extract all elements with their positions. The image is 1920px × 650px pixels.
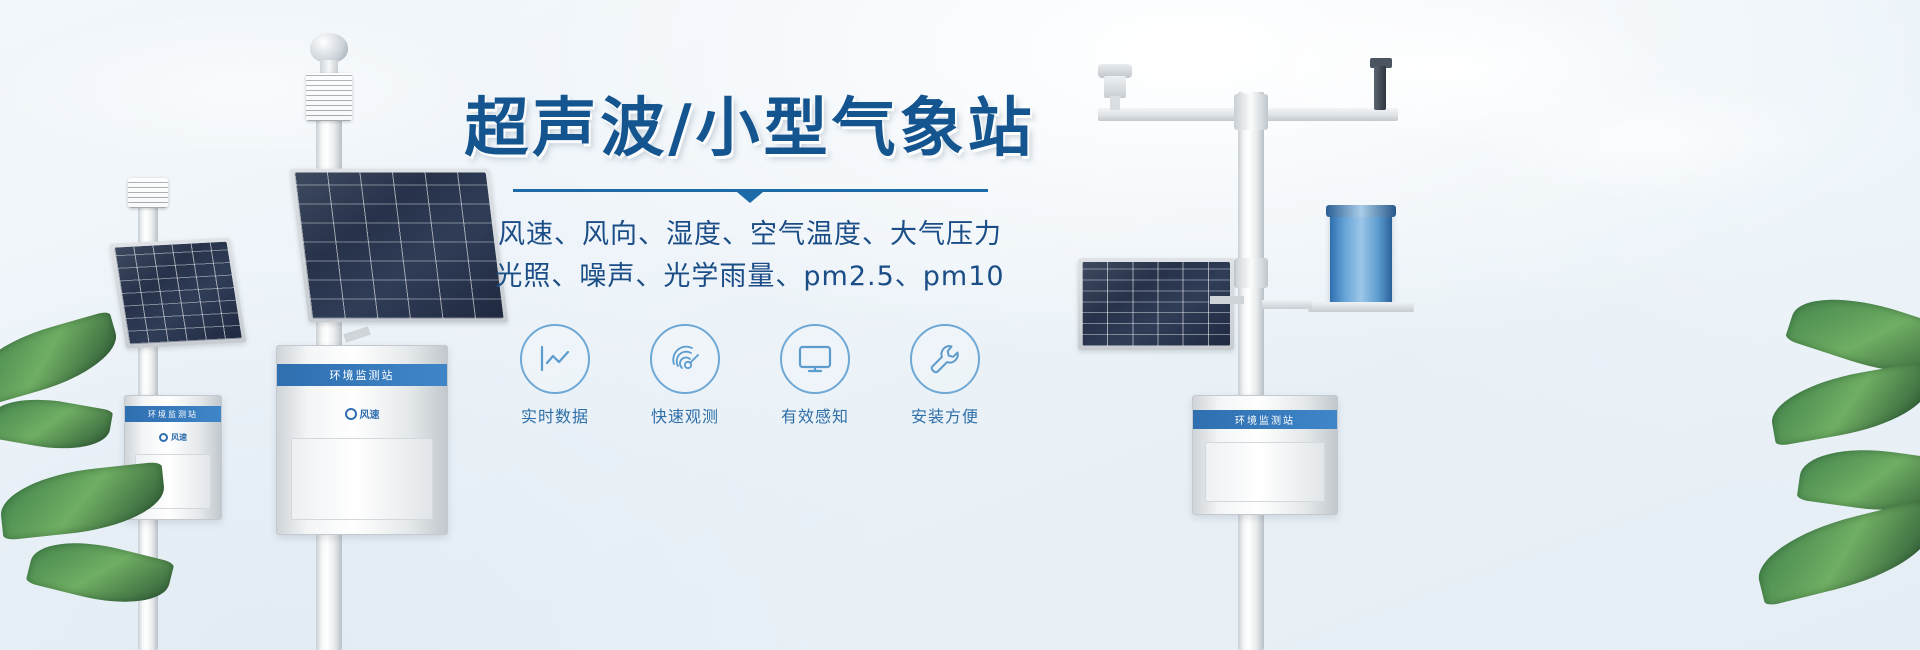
- station-mid-strip-label: 环境监测站: [330, 367, 395, 383]
- station-mid-cabinet-strip: 环境监测站: [277, 364, 447, 386]
- feature-circle: [780, 324, 850, 394]
- station-mid-radiation-shield: [306, 73, 352, 121]
- station-mid-cabinet: 环境监测站 风速: [276, 345, 448, 535]
- station-left-cabinet-logo: 风速: [125, 432, 221, 443]
- station-mid-cabinet-door: [291, 438, 433, 520]
- station-mid-brand-label: 风速: [360, 406, 380, 421]
- shield-fins: [128, 178, 168, 208]
- feature-item-fast-observation[interactable]: 快速观测: [642, 324, 728, 427]
- brand-mark-icon: [159, 433, 168, 442]
- subline-1: 风速、风向、湿度、空气温度、大气压力: [430, 214, 1070, 256]
- subline-2: 光照、噪声、光学雨量、pm2.5、pm10: [430, 256, 1070, 298]
- station-left-brand-label: 风速: [171, 432, 187, 443]
- rain-gauge-top: [1326, 205, 1396, 217]
- banner-content: 超声波/小型气象站 风速、风向、湿度、空气温度、大气压力 光照、噪声、光学雨量、…: [430, 96, 1070, 427]
- feature-label: 快速观测: [642, 403, 728, 427]
- headline-divider: [513, 189, 988, 192]
- feature-label: 有效感知: [772, 403, 858, 427]
- feature-list: 实时数据 快速观测: [430, 324, 1070, 427]
- product-banner: 环境监测站 风速 环境监测站 风速: [0, 0, 1920, 650]
- station-left-solar-panel: [109, 237, 246, 348]
- station-left-radiation-shield: [128, 178, 168, 208]
- station-left-strip-label: 环境监测站: [148, 409, 198, 420]
- feature-item-realtime-data[interactable]: 实时数据: [512, 324, 598, 427]
- banner-headline: 超声波/小型气象站: [430, 96, 1070, 163]
- feature-label: 安装方便: [902, 403, 988, 427]
- station-mid-dome-sensor: [310, 33, 348, 63]
- wrench-icon: [927, 341, 963, 377]
- station-right-arm-collar-lower: [1234, 258, 1268, 288]
- station-right-panel-mount: [1210, 296, 1244, 304]
- rain-gauge-shelf-arm: [1262, 300, 1312, 309]
- solar-cells: [114, 242, 242, 345]
- feature-item-effective-sensing[interactable]: 有效感知: [772, 324, 858, 427]
- station-right-cabinet-door: [1205, 442, 1325, 502]
- wind-vane-body: [1374, 66, 1386, 110]
- optical-rain-gauge: [1330, 210, 1392, 305]
- feature-item-easy-installation[interactable]: 安装方便: [902, 324, 988, 427]
- monitor-screen-icon: [796, 343, 834, 375]
- station-mid-sensor-neck: [320, 60, 338, 74]
- feature-circle: [910, 324, 980, 394]
- solar-cells: [1082, 262, 1230, 346]
- station-right-solar-panel: [1078, 258, 1234, 350]
- station-right-cabinet: 环境监测站: [1192, 395, 1338, 515]
- feature-circle: [650, 324, 720, 394]
- feature-label: 实时数据: [512, 403, 598, 427]
- station-right-arm-collar: [1234, 94, 1268, 130]
- ultrasonic-sensor-stem: [1110, 96, 1120, 110]
- feature-circle: [520, 324, 590, 394]
- station-right-pole: [1238, 92, 1264, 650]
- station-left-cabinet-strip: 环境监测站: [125, 406, 221, 422]
- line-chart-icon: [537, 344, 573, 374]
- station-mid-cabinet-logo: 风速: [277, 406, 447, 421]
- ultrasonic-sensor-body: [1104, 76, 1126, 98]
- banner-sublines: 风速、风向、湿度、空气温度、大气压力 光照、噪声、光学雨量、pm2.5、pm10: [430, 214, 1070, 298]
- rain-gauge-shelf: [1308, 302, 1414, 312]
- brand-mark-icon: [345, 408, 357, 420]
- station-right-strip-label: 环境监测站: [1235, 412, 1295, 427]
- shield-fins: [306, 73, 352, 121]
- station-right-cabinet-strip: 环境监测站: [1193, 410, 1337, 429]
- radar-signal-icon: [667, 342, 703, 376]
